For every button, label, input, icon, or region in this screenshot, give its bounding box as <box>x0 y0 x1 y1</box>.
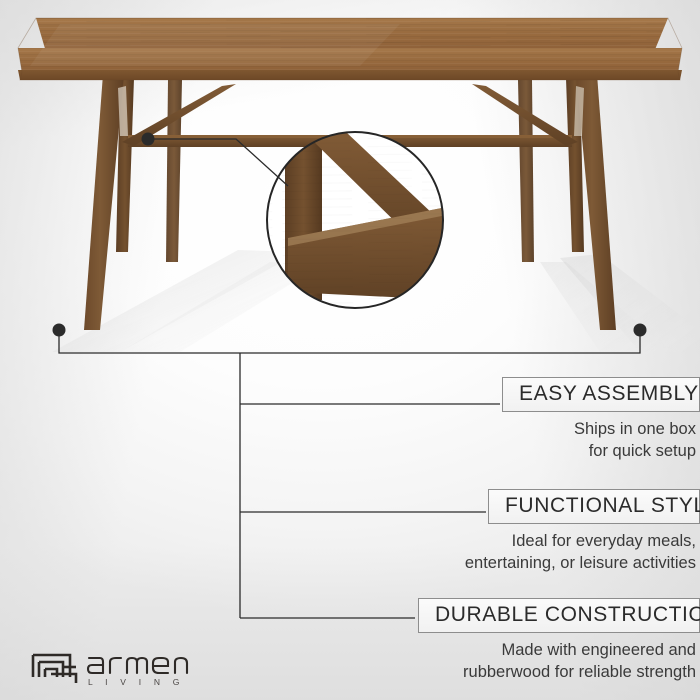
brand-logo: L I V I N G <box>30 643 220 689</box>
brand-tagline: L I V I N G <box>88 677 185 687</box>
feature-heading-box-functional-style: FUNCTIONAL STYLE <box>488 489 700 524</box>
brand-wordmark <box>88 658 187 673</box>
feature-functional-style: FUNCTIONAL STYLE Ideal for everyday meal… <box>465 489 700 575</box>
feature-body-easy-assembly: Ships in one box for quick setup <box>502 419 700 463</box>
feature-heading-easy-assembly: EASY ASSEMBLY <box>519 382 699 405</box>
width-bracket <box>59 330 640 353</box>
feature-body-functional-style: Ideal for everyday meals, entertaining, … <box>465 531 700 575</box>
callout-dot-joint <box>142 133 155 146</box>
callout-line-graphics <box>0 0 700 700</box>
feature-heading-box-durable-construction: DURABLE CONSTRUCTION <box>418 598 700 633</box>
feature-durable-construction: DURABLE CONSTRUCTION Made with engineere… <box>418 598 700 684</box>
feature-heading-box-easy-assembly: EASY ASSEMBLY <box>502 377 700 412</box>
callout-dot-right-foot <box>634 324 647 337</box>
feature-easy-assembly: EASY ASSEMBLY Ships in one box for quick… <box>502 377 700 463</box>
feature-heading-durable-construction: DURABLE CONSTRUCTION <box>435 603 700 626</box>
armen-living-mark-icon <box>33 655 76 683</box>
infographic-canvas: EASY ASSEMBLY Ships in one box for quick… <box>0 0 700 700</box>
detail-leader-line <box>152 139 288 186</box>
feature-heading-functional-style: FUNCTIONAL STYLE <box>505 494 700 517</box>
feature-body-durable-construction: Made with engineered and rubberwood for … <box>418 640 700 684</box>
callout-dot-left-foot <box>53 324 66 337</box>
